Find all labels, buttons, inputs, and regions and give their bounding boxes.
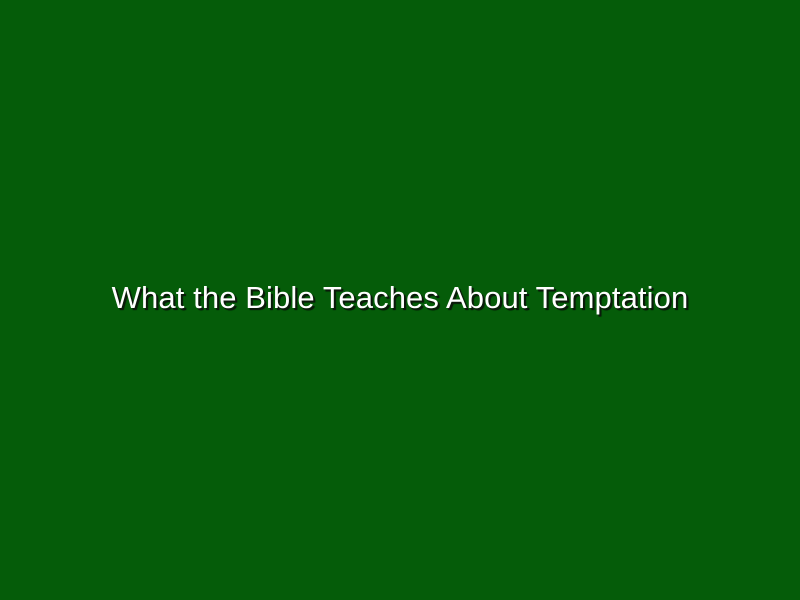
banner-title: What the Bible Teaches About Temptation	[112, 280, 689, 316]
title-banner: What the Bible Teaches About Temptation	[0, 0, 800, 600]
